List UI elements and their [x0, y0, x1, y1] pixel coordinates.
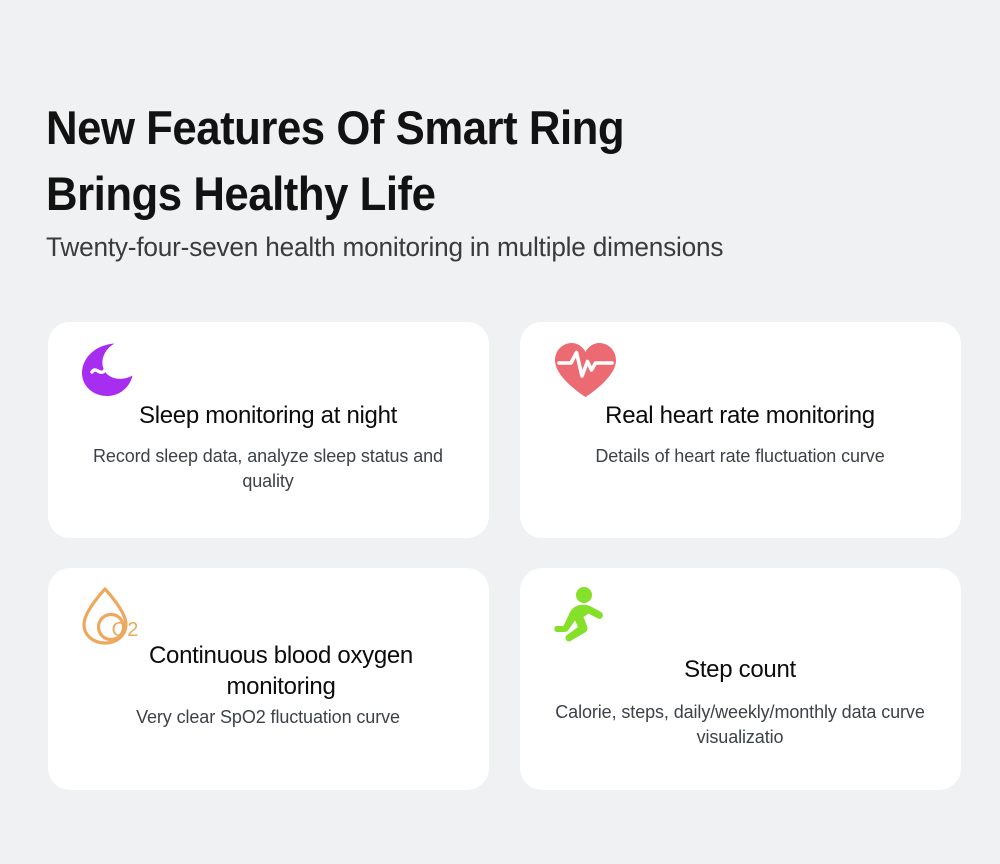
- blood-oxygen-droplet-icon: O2: [78, 586, 150, 648]
- card-description: Very clear SpO2 fluctuation curve: [68, 705, 468, 730]
- card-description: Calorie, steps, daily/weekly/monthly dat…: [530, 700, 950, 750]
- feature-card-blood-oxygen[interactable]: O2 Continuous blood oxygen monitoring Ve…: [48, 568, 489, 790]
- running-person-icon: [550, 586, 622, 648]
- card-description: Record sleep data, analyze sleep status …: [93, 444, 443, 494]
- card-description: Details of heart rate fluctuation curve: [540, 444, 940, 469]
- card-title: Sleep monitoring at night: [88, 400, 448, 431]
- feature-card-step-count[interactable]: Step count Calorie, steps, daily/weekly/…: [520, 568, 961, 790]
- blood-oxygen-icon-label: O2: [112, 619, 139, 641]
- heart-pulse-icon: [550, 340, 622, 402]
- page-subtitle: Twenty-four-seven health monitoring in m…: [46, 230, 723, 264]
- crescent-moon-icon: [78, 340, 150, 402]
- feature-card-grid: Sleep monitoring at night Record sleep d…: [48, 322, 961, 790]
- feature-card-sleep[interactable]: Sleep monitoring at night Record sleep d…: [48, 322, 489, 538]
- card-title: Continuous blood oxygen monitoring: [116, 640, 446, 702]
- feature-card-heart-rate[interactable]: Real heart rate monitoring Details of he…: [520, 322, 961, 538]
- page-title: New Features Of Smart Ring Brings Health…: [46, 95, 846, 227]
- card-title: Real heart rate monitoring: [560, 400, 920, 431]
- page-root: New Features Of Smart Ring Brings Health…: [0, 0, 1000, 864]
- card-title: Step count: [560, 654, 920, 685]
